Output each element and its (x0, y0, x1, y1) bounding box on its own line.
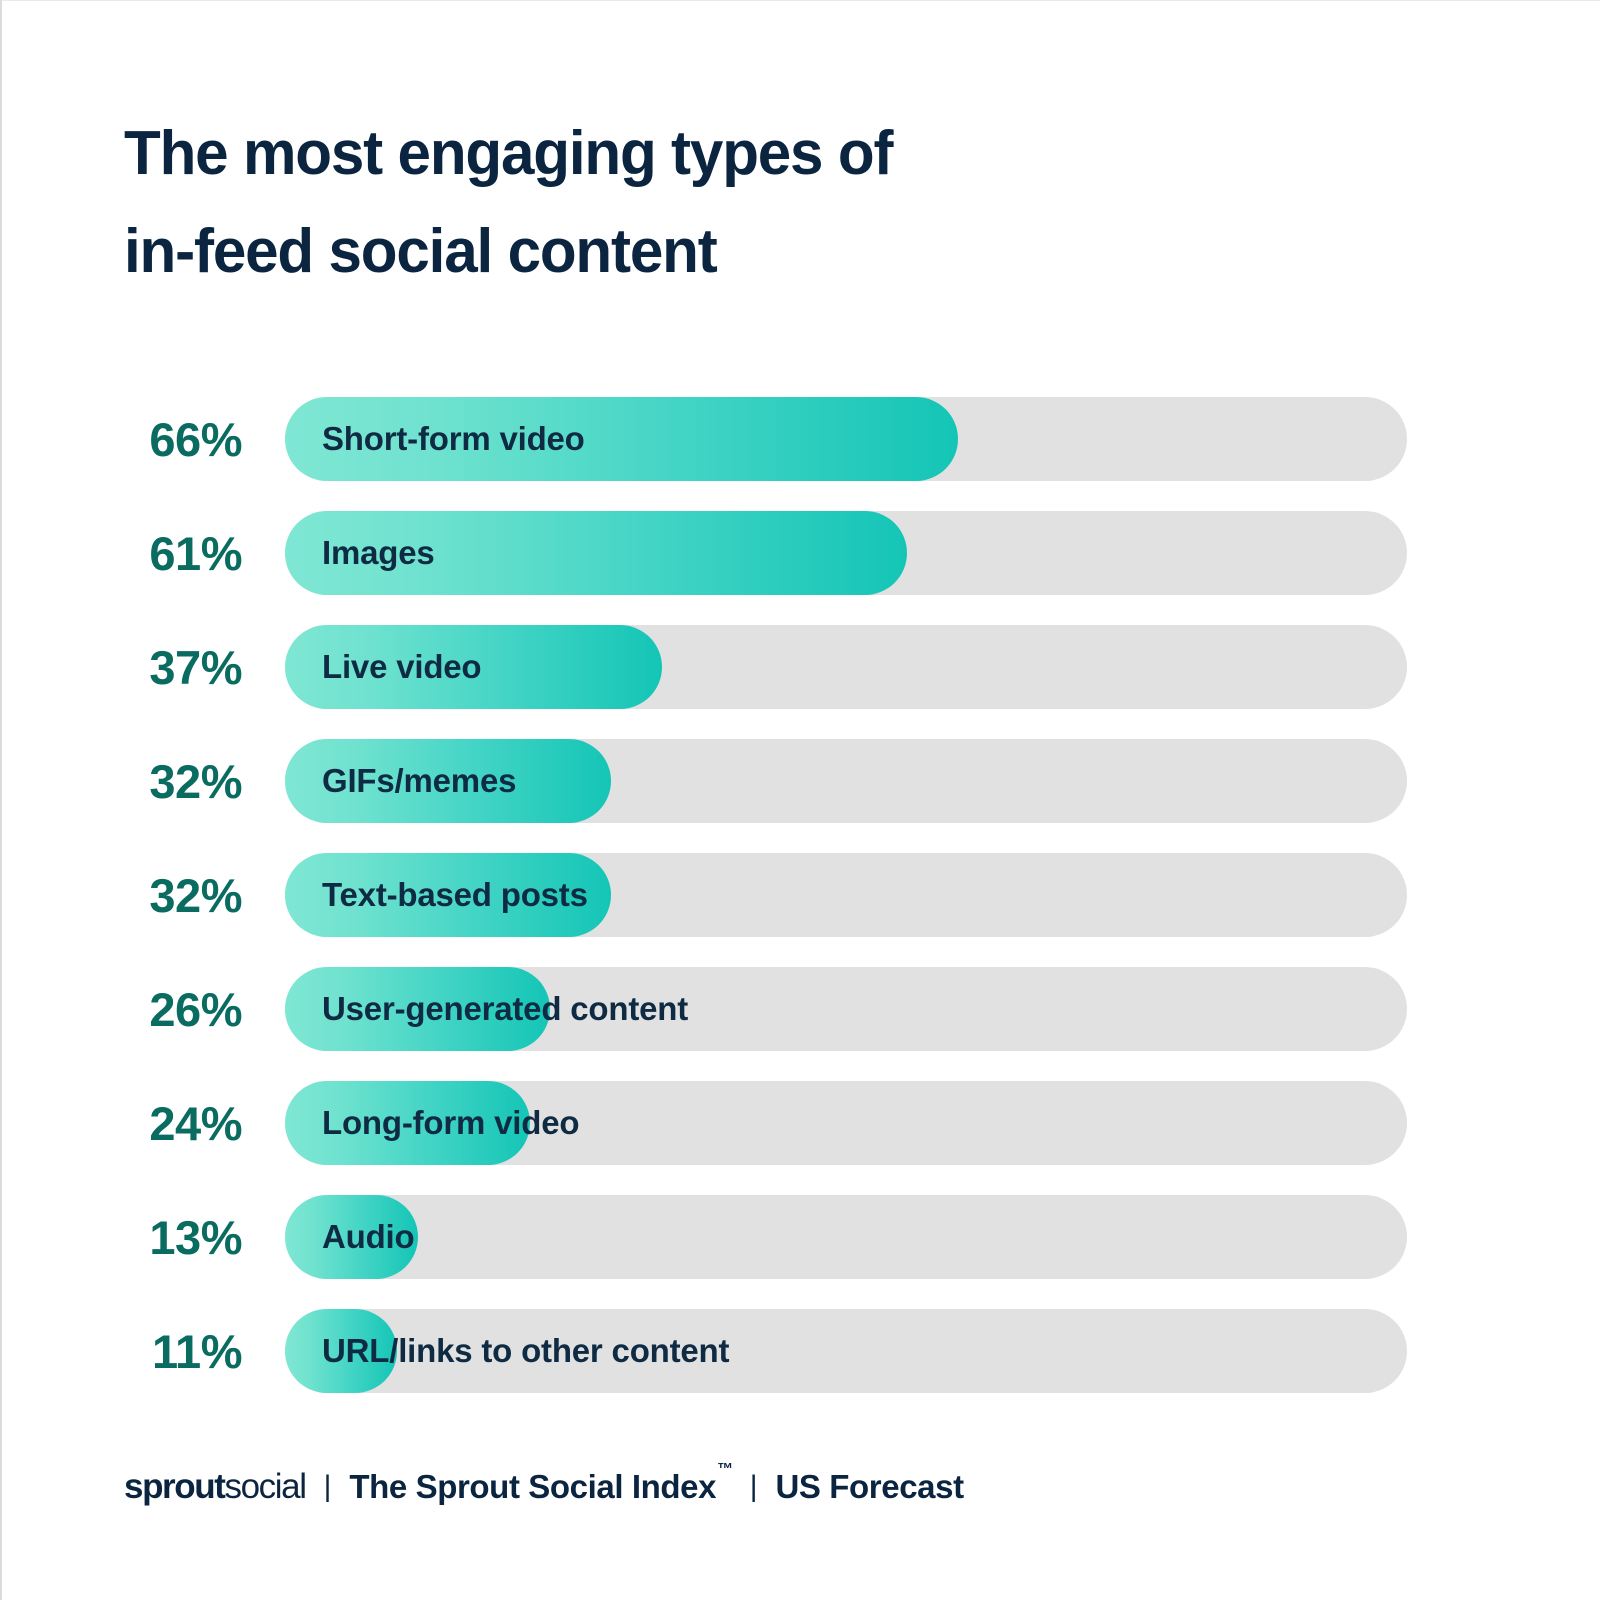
bar-value-label: 24% (112, 1081, 242, 1165)
bar-row: 26%User-generated content (2, 967, 1600, 1051)
bar-row: 13%Audio (2, 1195, 1600, 1279)
logo-word-sprout: sprout (124, 1467, 224, 1506)
bar-row: 32%Text-based posts (2, 853, 1600, 937)
footer-forecast-label: US Forecast (775, 1468, 963, 1506)
page-title-line-2: in-feed social content (124, 203, 1269, 301)
infographic-canvas: The most engaging types of in-feed socia… (0, 0, 1600, 1600)
bar-value-label: 37% (112, 625, 242, 709)
footer-divider-1: | (306, 1470, 350, 1504)
bar-row: 61%Images (2, 511, 1600, 595)
bar-category-label: Short-form video (322, 397, 585, 481)
page-title: The most engaging types of in-feed socia… (124, 105, 1304, 301)
bar-row: 66%Short-form video (2, 397, 1600, 481)
trademark-icon: ™ (717, 1461, 733, 1478)
bar-value-label: 26% (112, 967, 242, 1051)
footer-index-name: The Sprout Social Index™ (349, 1468, 731, 1506)
bar-category-label: Long-form video (322, 1081, 579, 1165)
footer-divider-2: | (732, 1470, 776, 1504)
bar-track (285, 511, 1407, 595)
bar-row: 32%GIFs/memes (2, 739, 1600, 823)
sprout-social-logo: sproutsocial (124, 1467, 306, 1507)
bar-category-label: Audio (322, 1195, 414, 1279)
bar-category-label: User-generated content (322, 967, 688, 1051)
bar-category-label: Live video (322, 625, 481, 709)
bar-value-label: 32% (112, 853, 242, 937)
footer-attribution: sproutsocial | The Sprout Social Index™ … (124, 1467, 964, 1507)
bar-category-label: Text-based posts (322, 853, 588, 937)
bar-value-label: 32% (112, 739, 242, 823)
bar-track (285, 1195, 1407, 1279)
footer-index-name-text: The Sprout Social Index (349, 1468, 716, 1505)
bar-value-label: 61% (112, 511, 242, 595)
bar-chart: 66%Short-form video61%Images37%Live vide… (2, 397, 1600, 1423)
bar-category-label: Images (322, 511, 435, 595)
bar-row: 37%Live video (2, 625, 1600, 709)
logo-word-social: social (224, 1467, 305, 1506)
bar-value-label: 11% (112, 1309, 242, 1393)
bar-value-label: 66% (112, 397, 242, 481)
bar-category-label: URL/links to other content (322, 1309, 729, 1393)
page-title-line-1: The most engaging types of (124, 105, 1269, 203)
bar-row: 11%URL/links to other content (2, 1309, 1600, 1393)
bar-category-label: GIFs/memes (322, 739, 516, 823)
bar-row: 24%Long-form video (2, 1081, 1600, 1165)
bar-value-label: 13% (112, 1195, 242, 1279)
